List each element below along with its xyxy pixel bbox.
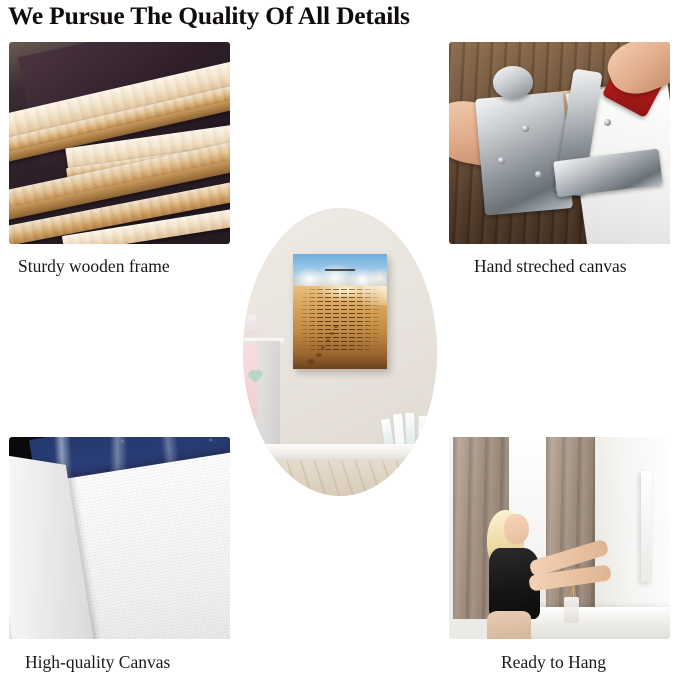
feature-image-sturdy-wooden-frame: [9, 42, 230, 244]
canvas-texture-photo: [9, 437, 230, 639]
poem-canvas-artwork: [293, 254, 386, 369]
hung-canvas: [641, 471, 652, 582]
page-title: We Pursue The Quality Of All Details: [8, 1, 410, 31]
hanging-canvas-photo: [449, 437, 670, 639]
feature-caption-ready-to-hang: Ready to Hang: [501, 652, 606, 673]
baseboard: [243, 444, 437, 461]
woman-trousers: [487, 611, 531, 639]
feature-caption-hand-streched-canvas: Hand streched canvas: [474, 256, 627, 277]
wood-floor: [243, 461, 437, 496]
dresser-knob: [255, 426, 259, 430]
feature-image-ready-to-hang: [449, 437, 670, 639]
rivet-icon: [522, 125, 529, 132]
artwork-poem-title: [325, 269, 355, 271]
diffuser-bottle: [564, 597, 579, 623]
plier-knob: [493, 66, 533, 98]
wooden-frames-photo: [9, 42, 230, 244]
rivet-icon: [604, 119, 611, 126]
center-room-mockup: [243, 208, 437, 496]
artwork-poem-text: [301, 289, 379, 351]
rivet-icon: [498, 157, 505, 164]
feature-caption-sturdy-wooden-frame: Sturdy wooden frame: [18, 256, 170, 277]
feature-image-hand-streched-canvas: [449, 42, 670, 244]
console-table: [522, 607, 670, 639]
artwork-clouds: [293, 263, 386, 286]
canvas-stretching-photo: [449, 42, 670, 244]
feature-image-high-quality-canvas: [9, 437, 230, 639]
woman-face: [504, 514, 528, 544]
footprint: [316, 353, 322, 357]
feature-caption-high-quality-canvas: High-quality Canvas: [25, 652, 170, 673]
